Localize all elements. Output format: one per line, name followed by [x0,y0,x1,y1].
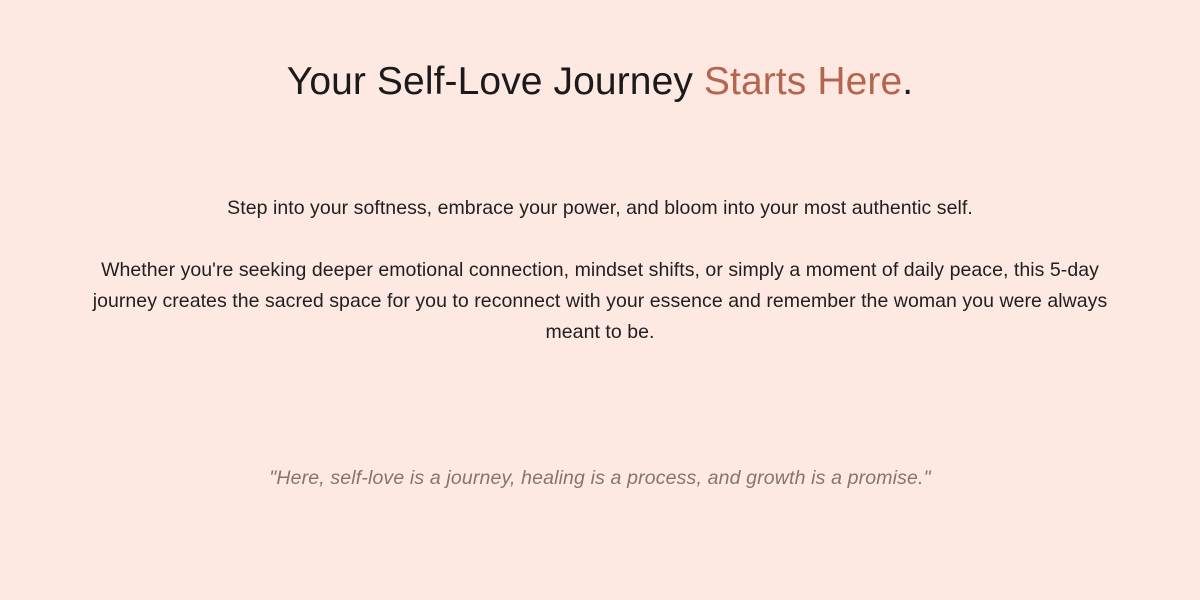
hero-body-copy: Step into your softness, embrace your po… [72,193,1128,348]
page-title: Your Self-Love Journey Starts Here. [0,56,1200,108]
hero-paragraph-secondary: Whether you're seeking deeper emotional … [72,255,1128,348]
hero-section: Your Self-Love Journey Starts Here. Step… [0,0,1200,600]
hero-pull-quote: "Here, self-love is a journey, healing i… [100,463,1100,493]
page-title-period: . [902,60,913,103]
page-title-accent: Starts Here [704,60,902,103]
page-title-lead: Your Self-Love Journey [287,60,704,103]
hero-paragraph-primary: Step into your softness, embrace your po… [72,193,1128,224]
